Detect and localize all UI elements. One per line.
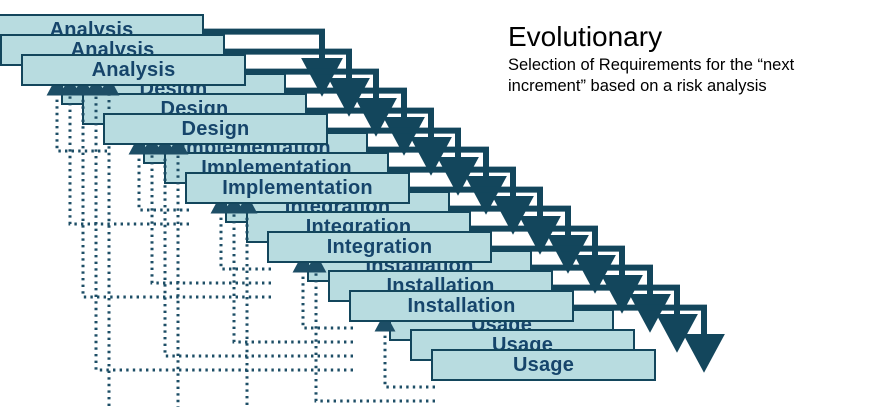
phase-box-implementation-layer2[interactable]: Implementation [185, 172, 410, 204]
phase-label: Design [182, 119, 250, 139]
phase-label: Integration [327, 237, 433, 257]
feedback-arrow-installation-to-implementation [234, 207, 353, 342]
feedback-arrow-installation-to-integration [303, 266, 353, 328]
phase-label: Usage [513, 355, 574, 375]
phase-label: Installation [408, 296, 516, 316]
phase-label: Implementation [222, 178, 373, 198]
phase-box-installation-layer2[interactable]: Installation [349, 290, 574, 322]
phase-box-analysis-layer2[interactable]: Analysis [21, 54, 246, 86]
feedback-arrow-implementation-to-analysis [70, 89, 189, 224]
phase-label: Analysis [92, 60, 176, 80]
diagram-canvas: AnalysisDesignImplementationIntegrationI… [0, 0, 881, 407]
feedback-arrow-integration-to-design [152, 148, 271, 283]
phase-box-integration-layer2[interactable]: Integration [267, 231, 492, 263]
phase-box-usage-layer2[interactable]: Usage [431, 349, 656, 381]
phase-box-design-layer2[interactable]: Design [103, 113, 328, 145]
